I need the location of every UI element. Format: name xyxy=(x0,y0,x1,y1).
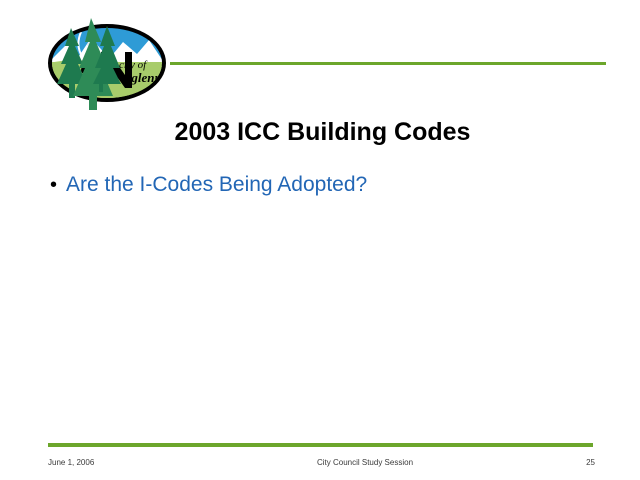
bullet-text: Are the I-Codes Being Adopted? xyxy=(66,172,604,198)
slide-body-list: • Are the I-Codes Being Adopted? xyxy=(44,172,604,204)
header-accent-rule xyxy=(170,62,606,65)
footer-session-label: City Council Study Session xyxy=(190,458,540,468)
slide-canvas: city of orthglenn 2003 ICC Building Code… xyxy=(0,0,640,480)
footer-page-number: 25 xyxy=(540,458,595,468)
footer-accent-rule xyxy=(48,443,593,447)
slide-title: 2003 ICC Building Codes xyxy=(60,118,585,147)
city-of-northglenn-logo: city of orthglenn xyxy=(45,12,180,112)
bullet-marker-icon: • xyxy=(44,172,66,198)
footer-date: June 1, 2006 xyxy=(48,458,94,468)
list-item: • Are the I-Codes Being Adopted? xyxy=(44,172,604,198)
